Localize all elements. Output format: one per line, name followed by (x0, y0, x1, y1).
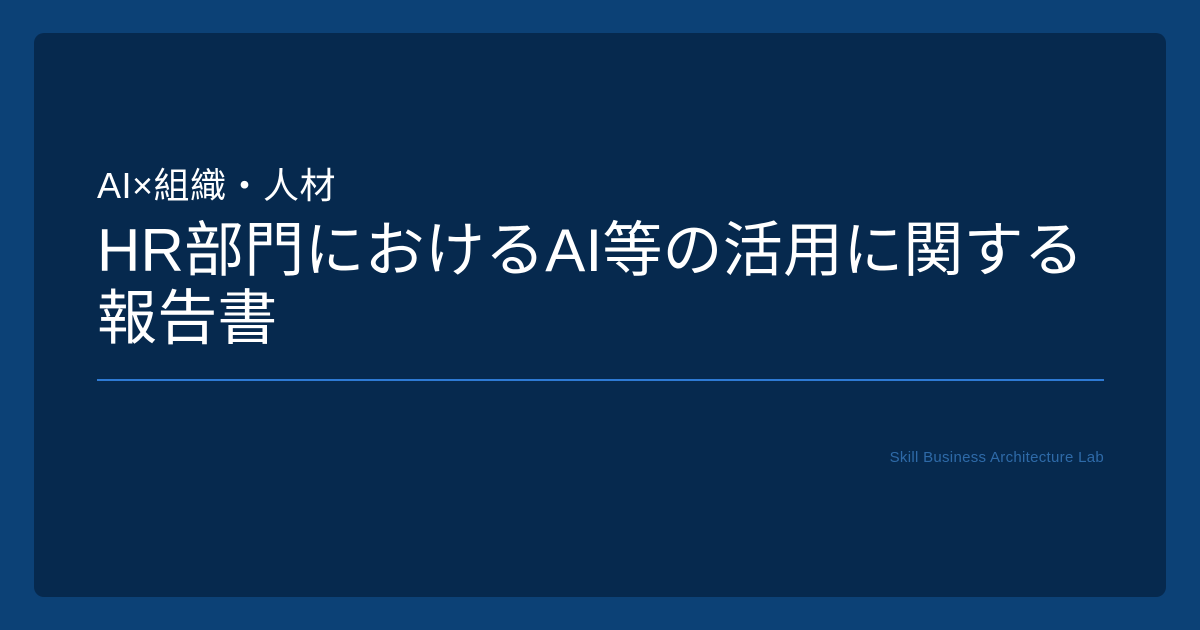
slide-card: AI×組織・人材 HR部門におけるAI等の活用に関する報告書 Skill Bus… (34, 33, 1166, 597)
accent-divider (97, 379, 1104, 381)
footer-credit: Skill Business Architecture Lab (97, 447, 1104, 469)
eyebrow-label: AI×組織・人材 (97, 163, 1104, 209)
page-title: HR部門におけるAI等の活用に関する報告書 (97, 217, 1104, 353)
slide-frame: AI×組織・人材 HR部門におけるAI等の活用に関する報告書 Skill Bus… (0, 0, 1200, 630)
title-block: AI×組織・人材 HR部門におけるAI等の活用に関する報告書 (97, 163, 1104, 353)
